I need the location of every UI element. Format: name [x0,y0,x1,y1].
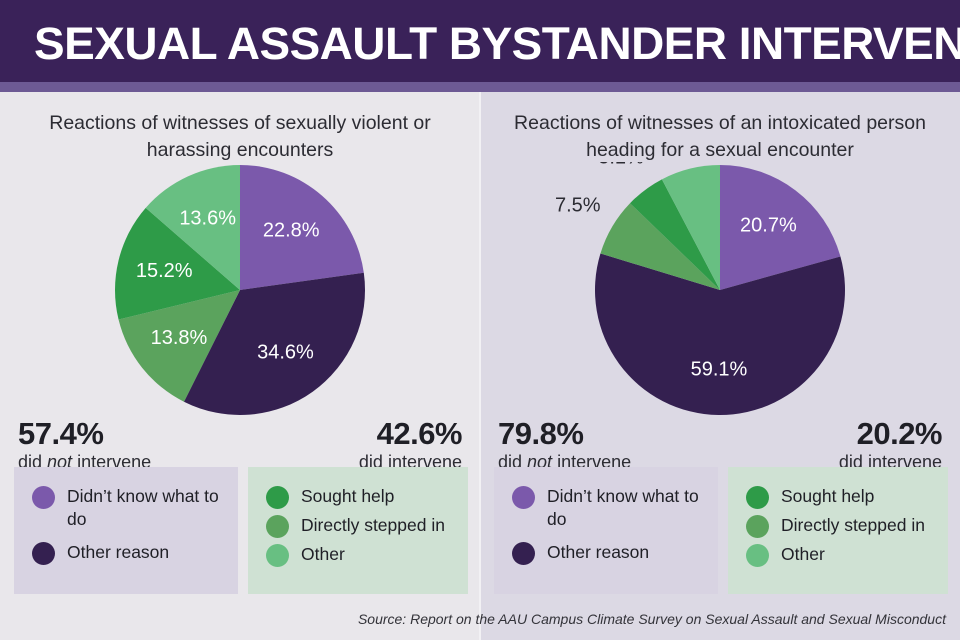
legend-item-label: Sought help [301,485,394,508]
stat-did-not-intervene-left: 57.4% did not intervene [18,417,151,473]
stat-value: 42.6% [359,417,462,451]
legend-item-label: Sought help [781,485,874,508]
stat-value: 20.2% [839,417,942,451]
legend-item-label: Other [301,543,345,566]
source-attribution: Source: Report on the AAU Campus Climate… [358,611,946,627]
pie-slice-label: 13.8% [151,327,208,349]
stat-value: 57.4% [18,417,151,451]
legend-swatch-icon [266,544,289,567]
legend-item-label: Other reason [547,541,649,564]
legend-item-label: Directly stepped in [301,514,445,537]
legend-item: Directly stepped in [746,514,948,538]
chart-panel-left: Reactions of witnesses of sexually viole… [0,92,480,602]
legend-item-label: Other [781,543,825,566]
legend-box-did-not-intervene-left: Didn’t know what to do Other reason [14,467,238,594]
chart-panel-right: Reactions of witnesses of an intoxicated… [480,92,960,602]
legend-item-label: Didn’t know what to do [547,485,718,531]
legend-box-did-intervene-left: Sought help Directly stepped in Other [248,467,468,594]
page-title: SEXUAL ASSAULT BYSTANDER INTERVENTION [34,16,952,72]
legend-item-label: Directly stepped in [781,514,925,537]
legend-swatch-icon [266,515,289,538]
footer: Source: Report on the AAU Campus Climate… [0,602,960,640]
legend-swatch-icon [32,542,55,565]
legend-item: Didn’t know what to do [512,485,718,531]
infographic-root: SEXUAL ASSAULT BYSTANDER INTERVENTION Re… [0,0,960,640]
pie-slice-label: 34.6% [257,342,314,364]
legend-item: Sought help [266,485,468,509]
chart-title-left: Reactions of witnesses of sexually viole… [25,110,455,164]
legend-swatch-icon [512,486,535,509]
stat-did-not-intervene-right: 79.8% did not intervene [498,417,631,473]
legend-swatch-icon [746,515,769,538]
legend-swatch-icon [266,486,289,509]
pie-slice-label: 5.1% [598,162,644,168]
legend-item-label: Other reason [67,541,169,564]
legend-swatch-icon [746,544,769,567]
legend-row-left: Didn’t know what to do Other reason Soug… [0,467,480,597]
pie-chart-left-wrapper: 22.8%34.6%13.8%15.2%13.6% [0,162,480,432]
legend-row-right: Didn’t know what to do Other reason Soug… [480,467,960,597]
pie-slice-label: 7.5% [555,195,601,217]
legend-swatch-icon [32,486,55,509]
legend-box-did-intervene-right: Sought help Directly stepped in Other [728,467,948,594]
legend-item: Other [746,543,948,567]
legend-item: Sought help [746,485,948,509]
header-accent-stripe [0,82,960,92]
legend-item: Didn’t know what to do [32,485,238,531]
header-banner: SEXUAL ASSAULT BYSTANDER INTERVENTION [0,0,960,92]
legend-item: Other [266,543,468,567]
pie-slice-label: 15.2% [136,260,193,282]
stat-did-intervene-right: 20.2% did intervene [839,417,942,473]
chart-title-right: Reactions of witnesses of an intoxicated… [505,110,935,164]
pie-slice-label: 20.7% [740,215,797,237]
pie-chart-left: 22.8%34.6%13.8%15.2%13.6% [0,162,480,432]
pie-slice-label: 13.6% [179,207,236,229]
legend-box-did-not-intervene-right: Didn’t know what to do Other reason [494,467,718,594]
legend-item: Other reason [32,541,238,565]
legend-item: Other reason [512,541,718,565]
pie-chart-right-wrapper: 20.7%59.1%7.5%5.1%7.7% [480,162,960,432]
pie-slice-label: 59.1% [691,358,748,380]
legend-item: Directly stepped in [266,514,468,538]
stat-did-intervene-left: 42.6% did intervene [359,417,462,473]
legend-swatch-icon [512,542,535,565]
stat-value: 79.8% [498,417,631,451]
pie-chart-right: 20.7%59.1%7.5%5.1%7.7% [480,162,960,432]
legend-item-label: Didn’t know what to do [67,485,238,531]
legend-swatch-icon [746,486,769,509]
pie-slice-label: 22.8% [263,219,320,241]
